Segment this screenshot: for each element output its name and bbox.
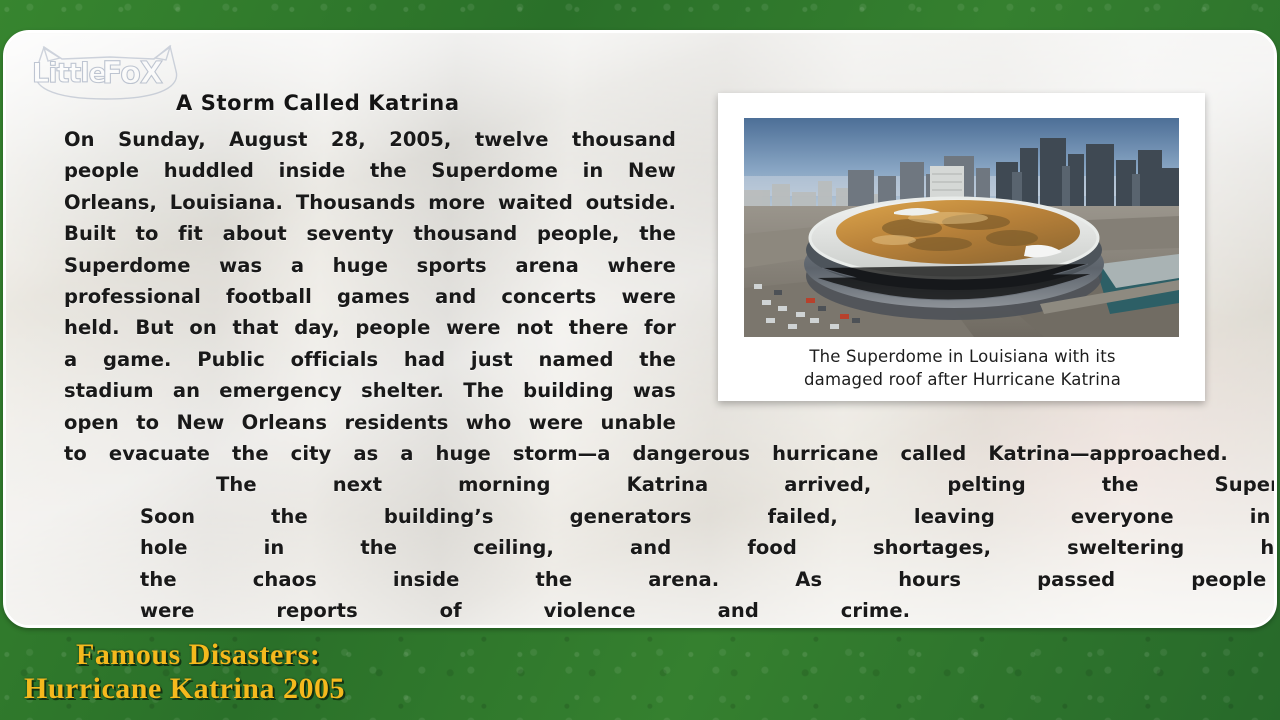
text-line: peoplehuddledinsidetheSuperdomeinNew: [64, 155, 676, 186]
paragraph-one: OnSunday,August28,2005,twelvethousand pe…: [64, 124, 676, 438]
text-line: werereportsofviolenceandcrime.: [64, 595, 1228, 626]
text-line: professionalfootballgamesandconcertswere: [64, 281, 676, 312]
photo-card: The Superdome in Louisiana with its dama…: [718, 93, 1205, 401]
logo-text-little: Little: [32, 58, 106, 89]
paragraph-one-last-line: toevacuatethecityasahugestorm—adangerous…: [64, 438, 1228, 469]
text-line: agame.Publicofficialshadjustnamedthe: [64, 344, 676, 375]
photo-caption: The Superdome in Louisiana with its dama…: [744, 345, 1181, 391]
text-line: Builttofitaboutseventythousandpeople,the: [64, 218, 676, 249]
text-line: toevacuatethecityasahugestorm—adangerous…: [64, 438, 1228, 469]
paragraph-two: ThenextmorningKatrinaarrived,peltingtheS…: [64, 469, 1228, 626]
footer-band: Famous Disasters: Hurricane Katrina 2005: [0, 628, 1280, 720]
slide-root: Little FoX A Storm Called Katrina OnSund…: [0, 0, 1280, 720]
text-line: OnSunday,August28,2005,twelvethousand: [64, 124, 676, 155]
text-line: held.Butonthatday,peoplewerenottherefor: [64, 312, 676, 343]
caption-line-1: The Superdome in Louisiana with its: [744, 345, 1181, 368]
lesson-title: Famous Disasters: Hurricane Katrina 2005: [24, 638, 664, 706]
text-line: Soonthebuildingʼsgeneratorsfailed,leavin…: [64, 501, 1228, 532]
text-line: opentoNewOrleansresidentswhowereunable: [64, 407, 676, 438]
text-line: stadiumanemergencyshelter.Thebuildingwas: [64, 375, 676, 406]
text-line: Orleans,Louisiana.Thousandsmorewaitedout…: [64, 187, 676, 218]
content-panel: Little FoX A Storm Called Katrina OnSund…: [3, 30, 1277, 628]
logo-text-fox: FoX: [102, 56, 163, 91]
text-line: thechaosinsidethearena.Ashourspassedpeop…: [64, 564, 1228, 595]
text-line: ThenextmorningKatrinaarrived,peltingtheS…: [64, 469, 1228, 500]
text-line: holeintheceiling,andfoodshortages,swelte…: [64, 532, 1228, 563]
superdome-photo: [744, 118, 1179, 337]
text-line: Superdomewasahugesportsarenawhere: [64, 250, 676, 281]
caption-line-2: damaged roof after Hurricane Katrina: [744, 368, 1181, 391]
lesson-title-line-2: Hurricane Katrina 2005: [24, 672, 664, 706]
lesson-title-line-1: Famous Disasters:: [24, 638, 664, 672]
